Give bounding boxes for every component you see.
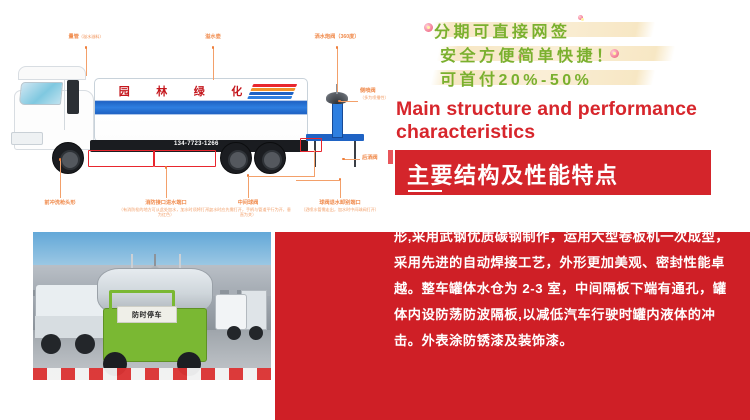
promo-text-2: 安全方便简单快捷！ [440, 42, 616, 66]
description-text: 罐体有效容积12方，洒水车罐体结构为椭圆形或方圆形,采用武钢优质碳钢制作，运用大… [394, 198, 730, 354]
photo-warning-sign: 防时停车 [117, 306, 177, 323]
label-side-spray-valve: 侧喷阀 （多为喷播性） [360, 88, 389, 100]
tank-phone-number: 134-7723-1266 [174, 141, 219, 147]
promo-text-3: 可首付20%-50% [440, 66, 592, 90]
truck-bumper [11, 132, 43, 145]
english-title: Main structure and performance character… [396, 98, 744, 144]
leader-side-spray [340, 101, 358, 102]
flower-icon-2 [578, 15, 583, 20]
leader-front-nozzle [60, 160, 61, 198]
truck-technical-diagram: 园 林 绿 化 134-7723-1266 [0, 0, 390, 232]
tank-brand-text: 园 林 绿 化 [106, 83, 256, 99]
leader-drain-outlet [340, 180, 341, 198]
chinese-title: 主要结构及性能特点 [407, 158, 619, 190]
label-ball-valve-drain-outlet: 球阀退水卸别端口 （洒喷水管需走出，加水时中间球阀打开） [299, 200, 381, 212]
promo-text-1: 分期可直接网签 [434, 18, 571, 42]
truck-door-line [64, 80, 65, 130]
leader-dot-2 [212, 46, 215, 49]
highlight-box-rear-valve [300, 138, 322, 152]
header-bar-tick [388, 150, 393, 164]
title-underline [408, 190, 442, 193]
rig-leg-right [354, 141, 356, 167]
leader-middle-valve-h [248, 176, 314, 177]
tank-char-3: 绿 [194, 83, 206, 99]
leader-fire-inlet [166, 168, 167, 198]
leader-middle-valve [248, 176, 249, 198]
leader-overflow-pipe [86, 48, 87, 76]
promo-line-2: 安全方便简单快捷！ [418, 42, 738, 66]
promo-line-1: 分期可直接网签 [418, 18, 738, 42]
label-fire-hose-inlet: 消防接口进水端口 （有消防栓的地方可从此处加水，加水时须将打开，为红色） [118, 200, 214, 217]
truck-front-wheel [52, 142, 84, 174]
leader-water-gauge [213, 48, 214, 80]
leader-dot-6 [59, 158, 62, 161]
label-front-flush-nozzle: 前冲洗枪头形 [44, 200, 75, 207]
tank-char-4: 化 [231, 83, 243, 99]
truck-rear-wheel-2 [254, 142, 286, 174]
tank-stripe-decal [247, 84, 297, 100]
rig-post [332, 102, 343, 138]
truck-cab-roof [18, 66, 86, 80]
leader-middle-valve-up [314, 150, 315, 177]
leader-dot-4 [338, 100, 341, 103]
label-middle-ball-valve: 中间球阀 （加水时应先需打开，手柄与管道平行为开，垂直为关） [205, 200, 291, 217]
leader-dot-5 [342, 158, 345, 161]
truck-cab-panel [67, 80, 79, 114]
leader-rear-spray [344, 159, 360, 160]
label-overflow-pipe: 量管（溢水溢料） [69, 34, 104, 41]
leader-dot-1 [85, 46, 88, 49]
green-water-truck-rear-photo: 防时停车 [33, 232, 271, 380]
highlight-box-front-valves [88, 150, 154, 167]
leader-cannon-valve [337, 48, 338, 92]
poster-canvas: 园 林 绿 化 134-7723-1266 [0, 0, 750, 420]
label-water-level-gauge: 溢水壶 [205, 34, 221, 41]
promo-line-3: 可首付20%-50% [418, 66, 738, 90]
promo-block: 分期可直接网签 安全方便简单快捷！ 可首付20%-50% [418, 18, 738, 96]
highlight-box-mid-valves [154, 150, 216, 167]
chinese-title-bar: 主要结构及性能特点 [395, 150, 711, 195]
leader-drain-outlet-h [296, 180, 341, 181]
leader-dot-7 [165, 166, 168, 169]
photo-sign-text: 防时停车 [132, 310, 162, 320]
tank-char-1: 园 [119, 83, 131, 99]
truck-windshield [19, 82, 63, 105]
flower-icon-1 [424, 23, 433, 32]
photo-main-truck: 防时停车 [95, 268, 213, 364]
truck-rear-wheel-1 [220, 142, 252, 174]
leader-dot-3 [336, 46, 339, 49]
label-sprinkler-cannon-valve: 洒水炮阀（360度） [315, 34, 360, 41]
tank-char-2: 林 [156, 83, 168, 99]
label-rear-spray-valve: 后洒阀 [362, 155, 378, 162]
photo-road-barrier [33, 368, 271, 380]
truck-illustration: 园 林 绿 化 134-7723-1266 [14, 72, 364, 177]
